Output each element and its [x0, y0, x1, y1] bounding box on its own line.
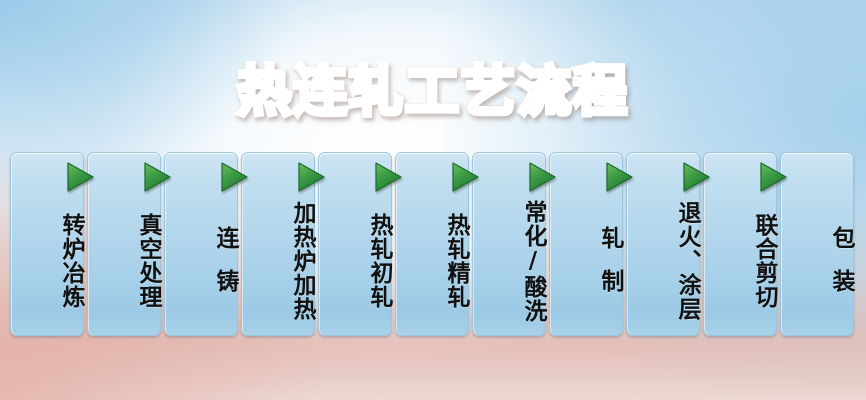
process-step-label: 真空处理 — [88, 191, 160, 331]
right-arrow-icon — [65, 161, 95, 193]
title-container: 热连轧工艺流程 — [0, 28, 866, 157]
process-step-label: 加热炉加热 — [242, 191, 314, 331]
process-step-label: 转炉冶炼 — [11, 191, 83, 331]
process-step-label: 联合剪切 — [704, 191, 776, 331]
right-arrow-icon — [527, 161, 557, 193]
right-arrow-icon — [373, 161, 403, 193]
right-arrow-icon — [219, 161, 249, 193]
right-arrow-icon — [142, 161, 172, 193]
process-step-11[interactable]: 包装 — [780, 152, 854, 336]
process-step-label: 连铸 — [165, 199, 237, 339]
process-step-label: 热轧初轧 — [319, 191, 391, 331]
right-arrow-icon — [758, 161, 788, 193]
process-step-label: 热轧精轧 — [396, 191, 468, 331]
process-step-label: 退火、涂层 — [627, 191, 699, 331]
process-flow: 转炉冶炼真空处理连铸加热炉加热热轧初轧热轧精轧常化/酸洗轧制退火、涂层联合剪切包… — [10, 152, 856, 336]
page-title: 热连轧工艺流程 — [237, 64, 629, 121]
right-arrow-icon — [681, 161, 711, 193]
process-step-label: 包装 — [781, 199, 853, 339]
right-arrow-icon — [450, 161, 480, 193]
right-arrow-icon — [296, 161, 326, 193]
slide-canvas: 热连轧工艺流程 转炉冶炼真空处理连铸加热炉加热热轧初轧热轧精轧常化/酸洗轧制退火… — [0, 0, 866, 400]
right-arrow-icon — [604, 161, 634, 193]
process-step-label: 常化/酸洗 — [473, 191, 545, 331]
process-step-label: 轧制 — [550, 199, 622, 339]
